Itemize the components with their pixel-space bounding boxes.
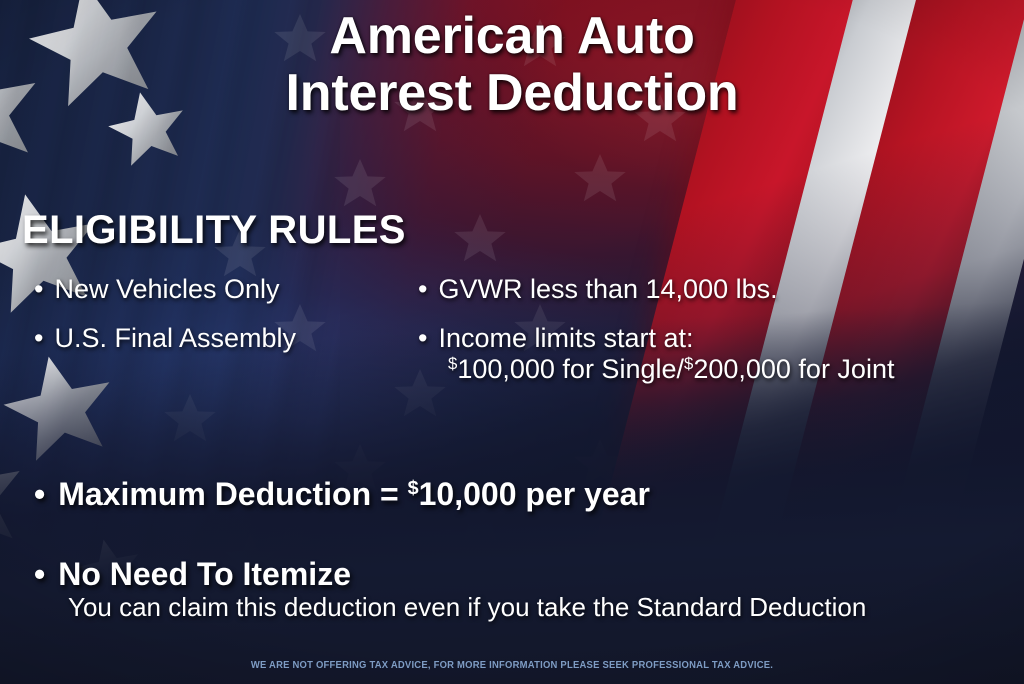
max-deduction-suffix: per year <box>517 476 650 512</box>
poster-canvas: American Auto Interest Deduction ELIGIBI… <box>0 0 1024 684</box>
key-points-group: • Maximum Deduction = $10,000 per year •… <box>34 478 1004 590</box>
key-point-no-itemize: • No Need To Itemize <box>34 558 1004 590</box>
income-limit-detail: $100,000 for Single/$200,000 for Joint <box>448 356 1018 383</box>
income-amount-joint: 200,000 <box>693 354 791 384</box>
list-item-label: Income limits start at: <box>438 325 693 352</box>
poster-content: American Auto Interest Deduction ELIGIBI… <box>0 0 1024 684</box>
eligibility-right-column: • GVWR less than 14,000 lbs. • Income li… <box>418 276 1018 383</box>
list-item-label: GVWR less than 14,000 lbs. <box>438 276 777 303</box>
key-point-max-deduction: • Maximum Deduction = $10,000 per year <box>34 478 1004 510</box>
bullet-dot-icon: • <box>34 558 45 590</box>
list-item: • GVWR less than 14,000 lbs. <box>418 276 1018 303</box>
poster-title: American Auto Interest Deduction <box>0 8 1024 121</box>
no-itemize-detail: You can claim this deduction even if you… <box>68 594 866 620</box>
list-item: • U.S. Final Assembly <box>34 325 394 352</box>
income-mid-text: for Single/ <box>555 354 684 384</box>
bullet-dot-icon: • <box>34 276 43 303</box>
eligibility-rules-heading: ELIGIBILITY RULES <box>22 208 406 253</box>
bullet-dot-icon: • <box>34 325 43 352</box>
max-deduction-text: Maximum Deduction = $10,000 per year <box>58 478 650 510</box>
list-item-label: New Vehicles Only <box>54 276 279 303</box>
title-line-1: American Auto <box>150 8 874 65</box>
bullet-dot-icon: • <box>418 325 427 352</box>
no-itemize-headline: No Need To Itemize <box>58 558 351 590</box>
list-item: • Income limits start at: <box>418 325 1018 352</box>
dollar-sign-3: $ <box>408 477 419 499</box>
dollar-sign-2: $ <box>684 354 693 373</box>
dollar-sign-1: $ <box>448 354 457 373</box>
disclaimer-text: WE ARE NOT OFFERING TAX ADVICE, FOR MORE… <box>51 659 973 671</box>
list-item-label: U.S. Final Assembly <box>54 325 296 352</box>
max-deduction-amount: 10,000 <box>419 476 517 512</box>
bullet-dot-icon: • <box>34 478 45 510</box>
income-end-text: for Joint <box>791 354 895 384</box>
bullet-dot-icon: • <box>418 276 427 303</box>
eligibility-left-column: • New Vehicles Only • U.S. Final Assembl… <box>34 276 394 374</box>
income-amount-single: 100,000 <box>457 354 555 384</box>
title-line-2: Interest Deduction <box>150 65 874 122</box>
list-item: • New Vehicles Only <box>34 276 394 303</box>
max-deduction-prefix: Maximum Deduction = <box>58 476 407 512</box>
